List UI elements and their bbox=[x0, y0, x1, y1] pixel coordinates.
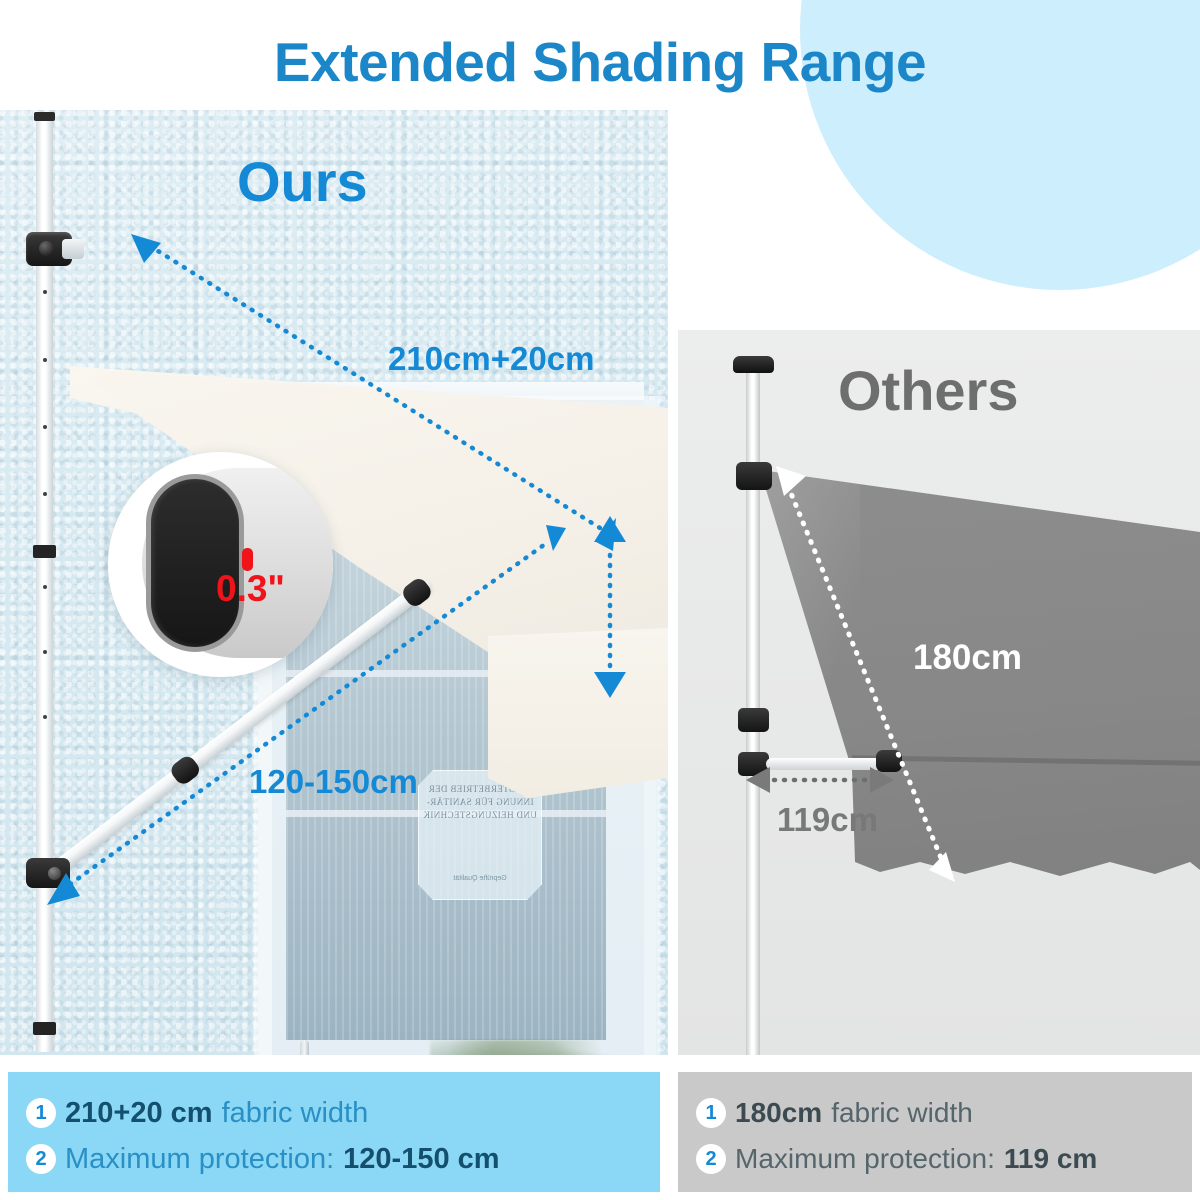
pole-hole bbox=[43, 715, 47, 719]
bracket-knob-icon bbox=[39, 241, 54, 256]
dim-label-fabric-width: 210cm+20cm bbox=[388, 340, 594, 378]
infographic-canvas: Extended Shading Range MEISTERBETRIEB DE… bbox=[0, 0, 1200, 1200]
awning-valance-drop bbox=[488, 628, 668, 798]
caption-text: fabric width bbox=[222, 1097, 369, 1130]
caption-row: 2 Maximum protection: 119 cm bbox=[696, 1136, 1178, 1182]
others-caption-bar: 1 180cm fabric width 2 Maximum protectio… bbox=[678, 1072, 1192, 1192]
caption-value: 120-150 cm bbox=[343, 1143, 499, 1176]
caption-value: 119 cm bbox=[1004, 1143, 1097, 1175]
caption-row: 1 180cm fabric width bbox=[696, 1090, 1178, 1136]
pole-hole bbox=[43, 425, 47, 429]
bracket-knob-icon bbox=[48, 867, 61, 880]
foliage-reflection bbox=[430, 1040, 620, 1055]
ours-label: Ours bbox=[237, 149, 368, 214]
others-arm-end-joint bbox=[876, 750, 902, 772]
others-label: Others bbox=[838, 358, 1019, 423]
others-mid-bracket bbox=[738, 708, 769, 732]
caption-number-badge: 2 bbox=[26, 1144, 56, 1174]
others-top-bracket bbox=[736, 462, 772, 490]
caption-number-badge: 1 bbox=[696, 1098, 726, 1128]
others-lower-bracket bbox=[738, 752, 769, 776]
tube-closeup-inset: 0.3" bbox=[108, 452, 333, 677]
pole-hole bbox=[43, 358, 47, 362]
pole-hole bbox=[43, 650, 47, 654]
top-bracket bbox=[26, 232, 72, 266]
pole-hole bbox=[43, 585, 47, 589]
dim-label-others-projection: 180cm bbox=[913, 638, 1022, 678]
caption-value: 210+20 cm bbox=[65, 1097, 213, 1130]
others-pole-cap bbox=[733, 356, 774, 373]
tube-bore bbox=[146, 474, 244, 652]
caption-row: 1 210+20 cm fabric width bbox=[26, 1090, 646, 1136]
window-decal-sub: Geprüfte Qualität bbox=[432, 874, 528, 883]
caption-value: 180cm bbox=[735, 1097, 822, 1129]
caption-text: fabric width bbox=[831, 1097, 973, 1129]
pole-hole bbox=[43, 290, 47, 294]
door-handle bbox=[300, 1040, 309, 1055]
bottom-bracket bbox=[26, 858, 70, 888]
ours-photo-panel: MEISTERBETRIEB DER INNUNG FÜR SANITÄR- U… bbox=[0, 110, 668, 1055]
pole-band bbox=[33, 1022, 56, 1035]
page-title: Extended Shading Range bbox=[0, 34, 1200, 92]
caption-text: Maximum protection: bbox=[65, 1143, 334, 1176]
pole-cap bbox=[34, 112, 55, 121]
dim-label-projection: 120-150cm bbox=[249, 763, 418, 801]
pole-hole bbox=[43, 492, 47, 496]
caption-row: 2 Maximum protection: 120-150 cm bbox=[26, 1136, 646, 1182]
caption-number-badge: 1 bbox=[26, 1098, 56, 1128]
caption-text: Maximum protection: bbox=[735, 1143, 995, 1175]
pole-band bbox=[33, 545, 56, 558]
ours-caption-bar: 1 210+20 cm fabric width 2 Maximum prote… bbox=[8, 1072, 660, 1192]
tube-thickness-label: 0.3" bbox=[216, 570, 285, 607]
dim-label-others-clearance: 119cm bbox=[777, 801, 878, 839]
caption-number-badge: 2 bbox=[696, 1144, 726, 1174]
